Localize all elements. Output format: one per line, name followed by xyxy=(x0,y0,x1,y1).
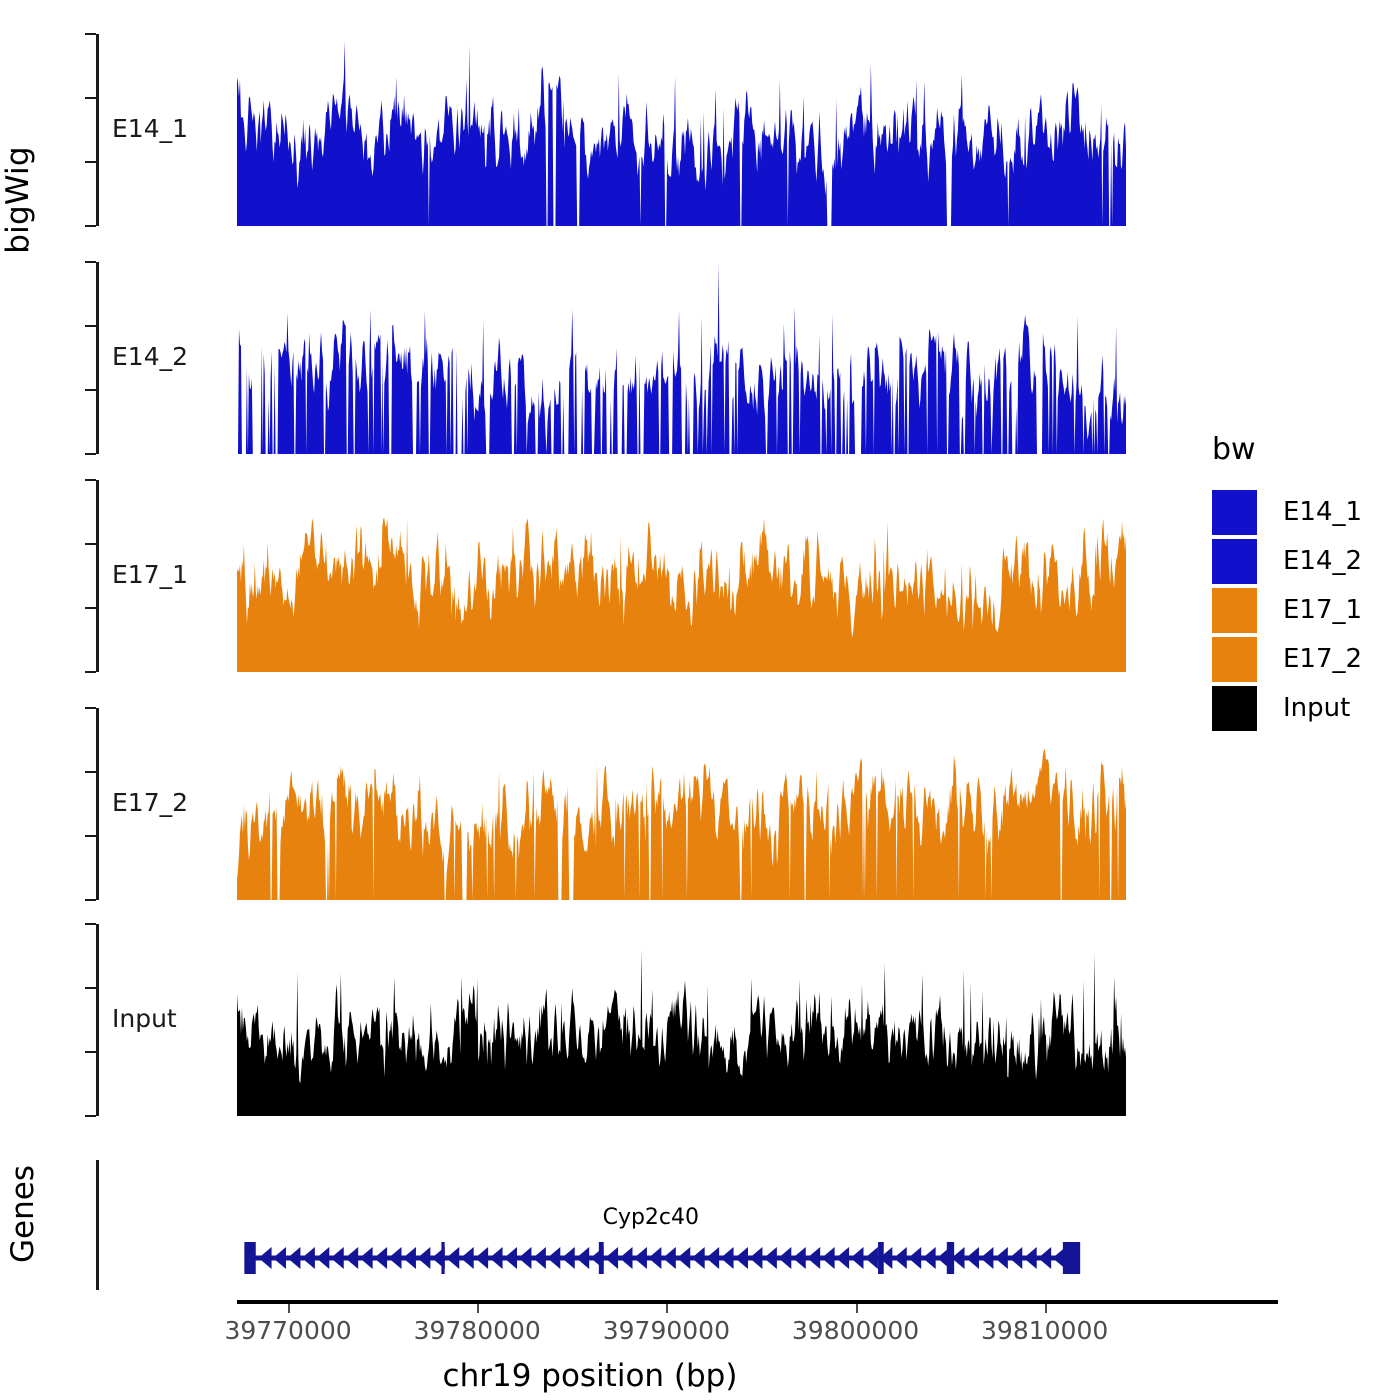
gene-strand-arrow xyxy=(966,1247,979,1269)
legend-item-e14_2[interactable]: E14_2 xyxy=(1212,537,1362,585)
legend-color-swatch xyxy=(1212,686,1257,731)
gene-strand-arrow xyxy=(417,1247,430,1269)
gene-strand-arrow xyxy=(894,1247,907,1269)
gene-strand-arrow xyxy=(677,1247,690,1269)
gene-strand-arrow xyxy=(1024,1247,1037,1269)
gene-strand-arrow xyxy=(345,1247,358,1269)
gene-strand-arrow xyxy=(778,1247,791,1269)
x-tick xyxy=(288,1304,290,1313)
gene-strand-arrow xyxy=(706,1247,719,1269)
legend-title: bw xyxy=(1212,432,1256,467)
x-tick xyxy=(856,1304,858,1313)
gene-strand-arrow xyxy=(663,1247,676,1269)
legend-item-label: E14_2 xyxy=(1283,546,1362,576)
gene-strand-arrow xyxy=(807,1247,820,1269)
gene-model[interactable] xyxy=(0,0,1180,1400)
gene-strand-arrow xyxy=(360,1247,373,1269)
gene-strand-arrow xyxy=(331,1247,344,1269)
gene-strand-arrow xyxy=(692,1247,705,1269)
legend-item-label: Input xyxy=(1283,693,1350,723)
gene-strand-arrow xyxy=(634,1247,647,1269)
gene-strand-arrow xyxy=(1038,1247,1051,1269)
gene-strand-arrow xyxy=(389,1247,402,1269)
gene-strand-arrow xyxy=(937,1247,950,1269)
x-tick xyxy=(666,1304,668,1313)
gene-strand-arrow xyxy=(562,1247,575,1269)
gene-strand-arrow xyxy=(533,1247,546,1269)
gene-strand-arrow xyxy=(865,1247,878,1269)
gene-strand-arrow xyxy=(547,1247,560,1269)
gene-strand-arrow xyxy=(793,1247,806,1269)
gene-strand-arrow xyxy=(287,1247,300,1269)
x-tick xyxy=(477,1304,479,1313)
gene-strand-arrow xyxy=(908,1247,921,1269)
gene-strand-arrow xyxy=(995,1247,1008,1269)
legend-item-label: E17_1 xyxy=(1283,595,1362,625)
gene-strand-arrow xyxy=(259,1247,272,1269)
legend-item-label: E14_1 xyxy=(1283,497,1362,527)
gene-strand-arrow xyxy=(504,1247,517,1269)
gene-strand-arrow xyxy=(980,1247,993,1269)
gene-exon xyxy=(253,1242,256,1274)
gene-strand-arrow xyxy=(576,1247,589,1269)
x-tick-label: 39790000 xyxy=(566,1316,766,1345)
legend-color-swatch xyxy=(1212,637,1257,682)
x-axis-label: chr19 position (bp) xyxy=(0,1358,1180,1394)
gene-strand-arrow xyxy=(1053,1247,1066,1269)
x-tick-label: 39800000 xyxy=(756,1316,956,1345)
gene-strand-arrow xyxy=(721,1247,734,1269)
gene-exon xyxy=(244,1242,253,1274)
gene-strand-arrow xyxy=(403,1247,416,1269)
gene-strand-arrow xyxy=(591,1247,604,1269)
x-tick-label: 39770000 xyxy=(188,1316,388,1345)
gene-strand-arrow xyxy=(836,1247,849,1269)
gene-strand-arrow xyxy=(1009,1247,1022,1269)
plot-root: bigWig Genes 0123E14_10123E14_20123E17_1… xyxy=(0,0,1400,1400)
legend-color-swatch xyxy=(1212,490,1257,535)
legend-item-e14_1[interactable]: E14_1 xyxy=(1212,488,1362,536)
gene-strand-arrow xyxy=(735,1247,748,1269)
gene-strand-arrow xyxy=(316,1247,329,1269)
x-tick-label: 39810000 xyxy=(945,1316,1145,1345)
gene-strand-arrow xyxy=(374,1247,387,1269)
gene-strand-arrow xyxy=(822,1247,835,1269)
gene-strand-arrow xyxy=(273,1247,286,1269)
x-tick-label: 39780000 xyxy=(377,1316,577,1345)
gene-strand-arrow xyxy=(302,1247,315,1269)
gene-strand-arrow xyxy=(518,1247,531,1269)
gene-strand-arrow xyxy=(764,1247,777,1269)
gene-strand-arrow xyxy=(749,1247,762,1269)
gene-strand-arrow xyxy=(432,1247,445,1269)
legend-color-swatch xyxy=(1212,539,1257,584)
gene-strand-arrow xyxy=(605,1247,618,1269)
gene-strand-arrow xyxy=(475,1247,488,1269)
x-tick xyxy=(1045,1304,1047,1313)
legend-item-e17_1[interactable]: E17_1 xyxy=(1212,586,1362,634)
legend-item-label: E17_2 xyxy=(1283,644,1362,674)
gene-strand-arrow xyxy=(619,1247,632,1269)
x-axis-line xyxy=(237,1300,1278,1304)
gene-strand-arrow xyxy=(461,1247,474,1269)
gene-exon xyxy=(1071,1242,1080,1274)
gene-strand-arrow xyxy=(648,1247,661,1269)
legend-item-e17_2[interactable]: E17_2 xyxy=(1212,635,1362,683)
gene-strand-arrow xyxy=(490,1247,503,1269)
legend-item-input[interactable]: Input xyxy=(1212,684,1350,732)
gene-strand-arrow xyxy=(446,1247,459,1269)
gene-strand-arrow xyxy=(850,1247,863,1269)
legend-color-swatch xyxy=(1212,588,1257,633)
gene-strand-arrow xyxy=(923,1247,936,1269)
